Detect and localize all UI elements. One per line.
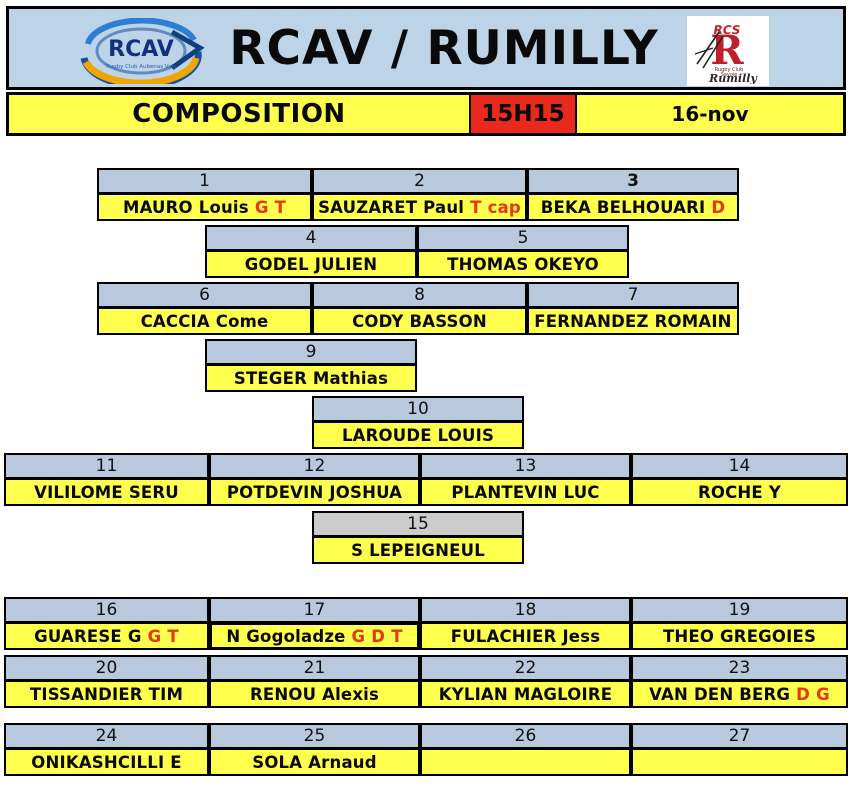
player-name-7: FERNANDEZ ROMAIN: [527, 307, 739, 335]
player-number-13: 13: [420, 453, 631, 479]
rcav-logo: RCAV Rugby Club Aubenas Vals: [71, 17, 211, 85]
player-number-21: 21: [209, 655, 420, 681]
player-mark-d: D: [711, 198, 725, 217]
player-name-text: THOMAS OKEYO: [447, 255, 599, 274]
player-number-11: 11: [4, 453, 209, 479]
player-mark-d: D: [796, 685, 810, 704]
player-name-text: N Gogoladze: [226, 627, 345, 646]
player-name-9: STEGER Mathias: [205, 364, 417, 392]
player-number-2: 2: [312, 168, 527, 194]
player-mark-g: G: [148, 627, 162, 646]
player-name-23: VAN DEN BERGDG: [631, 680, 848, 708]
player-name-text: S LEPEIGNEUL: [351, 541, 485, 560]
player-number-20: 20: [4, 655, 209, 681]
player-mark-t: T: [167, 627, 178, 646]
player-number-6: 6: [97, 282, 312, 308]
player-name-text: GODEL JULIEN: [245, 255, 377, 274]
player-name-6: CACCIA Come: [97, 307, 312, 335]
player-name-text: LAROUDE LOUIS: [342, 426, 494, 445]
player-name-12: POTDEVIN JOSHUA: [209, 478, 420, 506]
player-name-21: RENOU Alexis: [209, 680, 420, 708]
player-mark-d: D: [371, 627, 385, 646]
player-number-16: 16: [4, 597, 209, 623]
player-name-18: FULACHIER Jess: [420, 622, 631, 650]
player-name-10: LAROUDE LOUIS: [312, 421, 524, 449]
player-name-text: KYLIAN MAGLOIRE: [439, 685, 613, 704]
header-band: RCAV Rugby Club Aubenas Vals RCAV / RUMI…: [6, 6, 846, 90]
player-name-8: CODY BASSON: [312, 307, 527, 335]
player-mark-t: T: [470, 198, 481, 217]
player-name-27: [631, 748, 848, 776]
rcav-logo-graphic: RCAV Rugby Club Aubenas Vals: [72, 18, 210, 84]
player-mark-t: T: [391, 627, 402, 646]
player-number-18: 18: [420, 597, 631, 623]
team-sheet-page: RCAV Rugby Club Aubenas Vals RCAV / RUMI…: [0, 0, 852, 793]
rcav-logo-text: RCAV: [108, 37, 174, 62]
player-name-text: BEKA BELHOUARI: [541, 198, 706, 217]
rcav-logo-subtext: Rugby Club Aubenas Vals: [106, 64, 176, 70]
composition-bar: COMPOSITION 15H15 16-nov: [6, 92, 846, 136]
player-mark-g: G: [816, 685, 830, 704]
player-name-19: THEO GREGOIES: [631, 622, 848, 650]
player-mark-cap: cap: [488, 198, 521, 217]
match-date: 16-nov: [577, 95, 843, 133]
player-mark-g: G: [255, 198, 269, 217]
player-number-1: 1: [97, 168, 312, 194]
player-name-4: GODEL JULIEN: [205, 250, 417, 278]
player-name-1: MAURO LouisGT: [97, 193, 312, 221]
player-name-22: KYLIAN MAGLOIRE: [420, 680, 631, 708]
player-number-3: 3: [527, 168, 739, 194]
player-mark-g: G: [352, 627, 366, 646]
player-number-27: 27: [631, 723, 848, 749]
player-number-8: 8: [312, 282, 527, 308]
player-name-text: RENOU Alexis: [250, 685, 379, 704]
player-name-16: GUARESE GGT: [4, 622, 209, 650]
composition-title: COMPOSITION: [9, 95, 469, 133]
player-number-5: 5: [417, 225, 629, 251]
player-name-text: VAN DEN BERG: [649, 685, 790, 704]
player-number-23: 23: [631, 655, 848, 681]
rumilly-logo-graphic: RCS R Rugby Club Savoie Rumilly: [689, 18, 767, 84]
player-number-22: 22: [420, 655, 631, 681]
player-name-20: TISSANDIER TIM: [4, 680, 209, 708]
kickoff-time-badge: 15H15: [469, 95, 577, 133]
player-name-14: ROCHE Y: [631, 478, 848, 506]
player-name-11: VILILOME SERU: [4, 478, 209, 506]
player-number-25: 25: [209, 723, 420, 749]
player-number-9: 9: [205, 339, 417, 365]
player-number-19: 19: [631, 597, 848, 623]
player-name-2: SAUZARET PaulTcap: [312, 193, 527, 221]
player-name-text: PLANTEVIN LUC: [451, 483, 599, 502]
rumilly-logo: RCS R Rugby Club Savoie Rumilly: [687, 16, 769, 86]
rumilly-logo-script: Rumilly: [708, 72, 758, 84]
player-name-5: THOMAS OKEYO: [417, 250, 629, 278]
player-name-text: GUARESE G: [34, 627, 141, 646]
player-name-13: PLANTEVIN LUC: [420, 478, 631, 506]
player-name-3: BEKA BELHOUARID: [527, 193, 739, 221]
player-number-10: 10: [312, 396, 524, 422]
player-name-text: POTDEVIN JOSHUA: [227, 483, 402, 502]
player-number-17: 17: [209, 597, 420, 623]
player-name-15: S LEPEIGNEUL: [312, 536, 524, 564]
player-name-25: SOLA Arnaud: [209, 748, 420, 776]
player-name-text: THEO GREGOIES: [663, 627, 816, 646]
player-name-text: FULACHIER Jess: [451, 627, 601, 646]
player-name-text: ROCHE Y: [698, 483, 781, 502]
player-number-12: 12: [209, 453, 420, 479]
player-name-text: CODY BASSON: [352, 312, 487, 331]
player-name-text: VILILOME SERU: [34, 483, 179, 502]
player-number-15: 15: [312, 511, 524, 537]
player-name-text: TISSANDIER TIM: [30, 685, 183, 704]
player-name-text: MAURO Louis: [123, 198, 249, 217]
player-number-7: 7: [527, 282, 739, 308]
player-name-17: N GogoladzeGDT: [209, 622, 420, 650]
player-name-text: SAUZARET Paul: [318, 198, 464, 217]
player-number-4: 4: [205, 225, 417, 251]
player-number-24: 24: [4, 723, 209, 749]
player-name-text: SOLA Arnaud: [252, 753, 376, 772]
player-name-text: STEGER Mathias: [234, 369, 388, 388]
player-name-text: ONIKASHCILLI E: [31, 753, 181, 772]
player-mark-t: T: [275, 198, 286, 217]
match-title: RCAV / RUMILLY: [219, 9, 669, 87]
player-name-26: [420, 748, 631, 776]
player-name-text: FERNANDEZ ROMAIN: [534, 312, 731, 331]
player-name-24: ONIKASHCILLI E: [4, 748, 209, 776]
player-number-26: 26: [420, 723, 631, 749]
player-name-text: CACCIA Come: [141, 312, 269, 331]
player-number-14: 14: [631, 453, 848, 479]
